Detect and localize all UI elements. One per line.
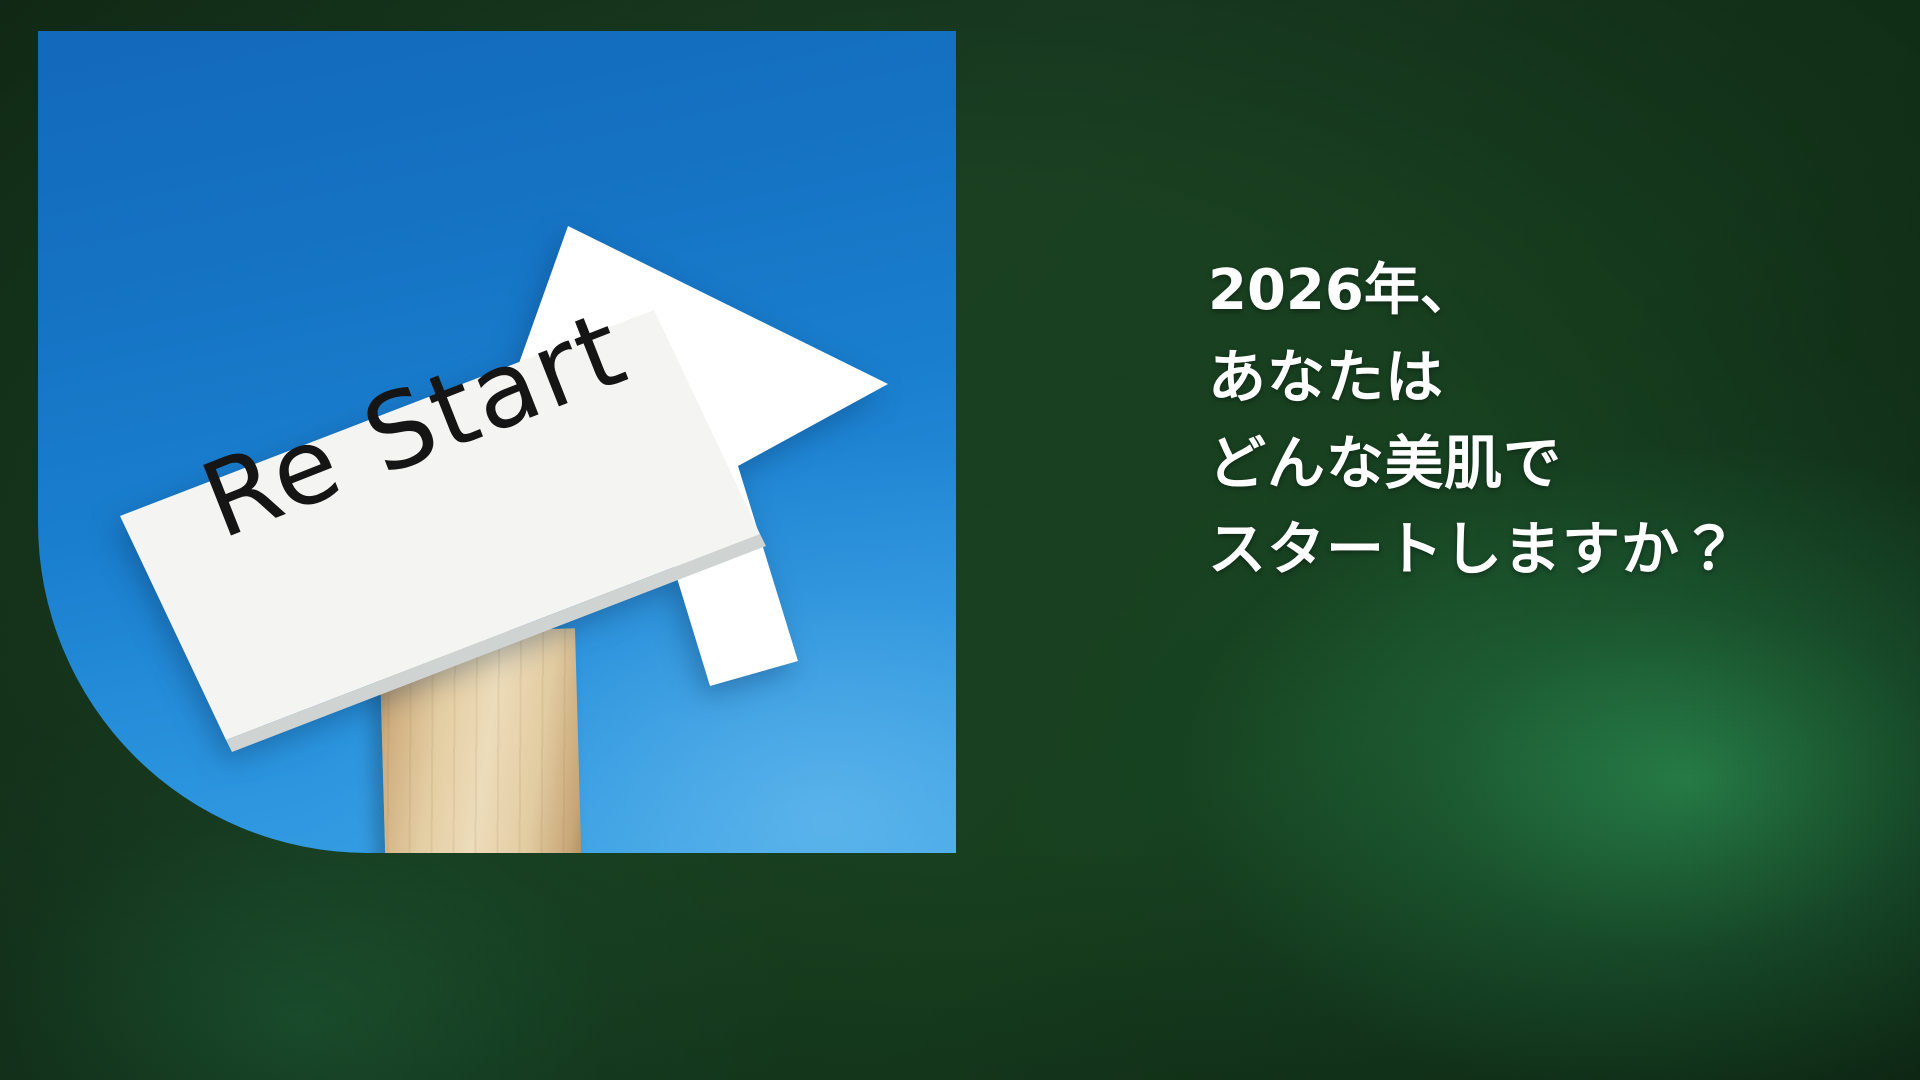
headline-line-2: あなたは	[1208, 334, 1868, 420]
slide-canvas: Re Start 2026年、 あなたは どんな美肌で スタートしますか？	[0, 0, 1920, 1080]
re-start-arrow-sign-photo: Re Start	[38, 31, 956, 853]
headline-line-4: スタートしますか？	[1208, 506, 1868, 592]
headline-line-1: 2026年、	[1208, 248, 1868, 334]
headline-block: 2026年、 あなたは どんな美肌で スタートしますか？	[1208, 248, 1868, 592]
headline-line-3: どんな美肌で	[1208, 420, 1868, 506]
